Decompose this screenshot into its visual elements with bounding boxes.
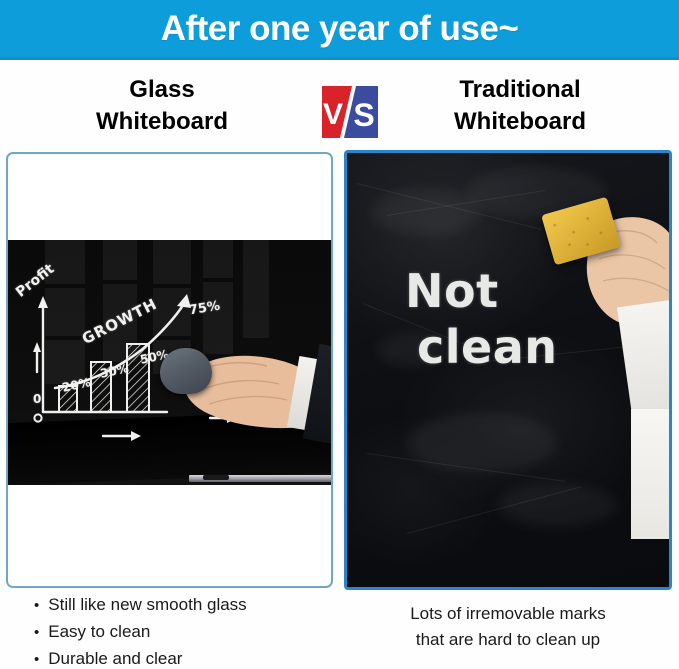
versus-badge-icon: V S: [318, 84, 382, 140]
glass-whiteboard-photo: Profit GROWTH 75% 50% 30% 20% 0 time: [7, 240, 333, 485]
chalk-label-bar-30: 30%: [99, 361, 130, 381]
panel-glass-whiteboard: Profit GROWTH 75% 50% 30% 20% 0 time: [6, 152, 333, 588]
window-mullion: [153, 336, 191, 340]
bullet-icon: •: [34, 598, 39, 613]
heading-traditional-line2: Whiteboard: [380, 106, 660, 138]
window-mullion: [153, 284, 191, 288]
dirty-chalkboard-photo: Not clean: [347, 153, 669, 587]
window-mullion: [103, 280, 137, 284]
caption-right-line2: that are hard to clean up: [356, 627, 660, 653]
window-reflection: [45, 240, 85, 384]
bullet-icon: •: [34, 652, 39, 667]
heading-traditional-line1: Traditional: [380, 74, 660, 106]
caption-traditional-drawbacks: Lots of irremovable marks that are hard …: [356, 601, 660, 652]
chalkboard-text: Not clean: [405, 263, 558, 375]
whiteboard-marker: [203, 475, 229, 480]
page-title: After one year of use~: [161, 11, 519, 46]
heading-glass-whiteboard: Glass Whiteboard: [22, 74, 302, 137]
list-item-label: Durable and clear: [48, 646, 182, 669]
window-reflection: [203, 240, 233, 354]
window-reflection: [243, 240, 269, 338]
caption-right-line1: Lots of irremovable marks: [356, 601, 660, 627]
window-reflection: [103, 240, 137, 362]
caption-glass-benefits: • Still like new smooth glass • Easy to …: [34, 592, 334, 669]
heading-traditional-whiteboard: Traditional Whiteboard: [380, 74, 660, 137]
list-item: • Durable and clear: [34, 646, 334, 669]
shirt-cuff: [617, 300, 669, 427]
svg-text:S: S: [353, 97, 374, 133]
list-item: • Still like new smooth glass: [34, 592, 334, 619]
chalk-smudge: [371, 189, 481, 235]
header-banner: After one year of use~: [0, 0, 679, 60]
svg-text:V: V: [323, 98, 343, 131]
window-mullion: [203, 278, 233, 282]
list-item: • Easy to clean: [34, 619, 334, 646]
white-shirt-sleeve: [631, 409, 669, 539]
list-item-label: Still like new smooth glass: [48, 592, 246, 619]
heading-glass-line1: Glass: [22, 74, 302, 106]
panel-traditional-whiteboard: Not clean: [344, 150, 672, 590]
chalk-text-line1: Not: [405, 264, 499, 318]
chalk-text-line2: clean: [417, 319, 558, 375]
list-item-label: Easy to clean: [48, 619, 150, 646]
chalk-label-origin: 0: [33, 392, 41, 406]
window-mullion: [45, 284, 85, 288]
window-mullion: [45, 336, 85, 340]
chalk-smudge: [407, 413, 557, 473]
comparison-infographic: After one year of use~ Glass Whiteboard …: [0, 0, 679, 669]
heading-glass-line2: Whiteboard: [22, 106, 302, 138]
whiteboard-eraser: [160, 348, 212, 394]
bullet-icon: •: [34, 625, 39, 640]
